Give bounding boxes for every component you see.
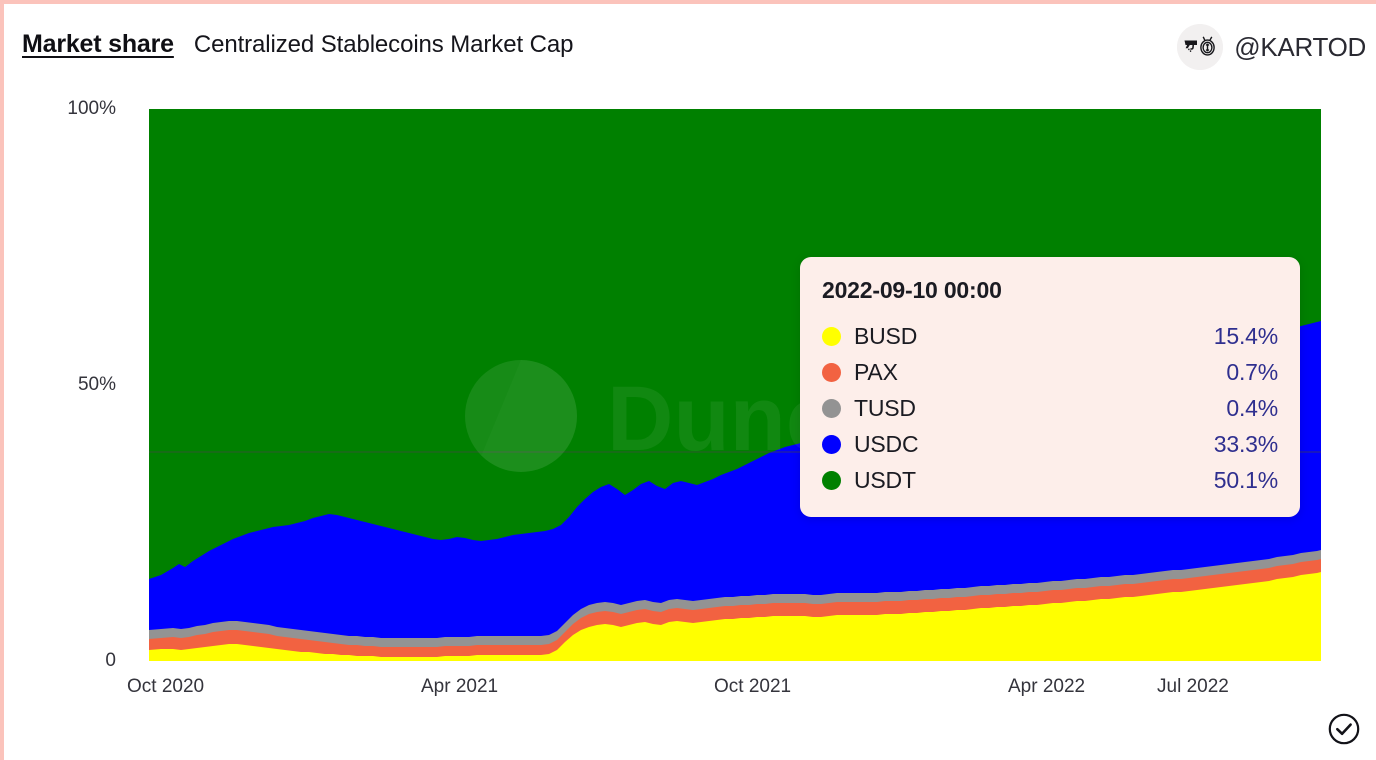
tooltip-label: TUSD <box>854 395 1226 422</box>
page-header: Market share Centralized Stablecoins Mar… <box>4 4 1376 88</box>
account-handle: @KARTOD <box>1234 32 1366 63</box>
tooltip-row-tusd: TUSD 0.4% <box>822 390 1278 426</box>
check-circle-icon[interactable] <box>1327 712 1361 746</box>
gun-coin-avatar-icon <box>1177 24 1223 70</box>
x-axis: Oct 2020 Apr 2021 Oct 2021 Apr 2022 Jul … <box>4 676 1376 712</box>
title-secondary: Centralized Stablecoins Market Cap <box>194 31 573 59</box>
x-tick-label: Oct 2021 <box>714 676 791 698</box>
tooltip-value: 0.4% <box>1226 395 1278 422</box>
y-tick-label: 100% <box>67 98 116 120</box>
title-primary: Market share <box>22 30 174 59</box>
tooltip-value: 50.1% <box>1214 467 1278 494</box>
chart-page: Market share Centralized Stablecoins Mar… <box>0 0 1376 760</box>
y-tick-label: 0 <box>105 650 116 672</box>
x-tick-label: Oct 2020 <box>127 676 204 698</box>
x-tick-label: Apr 2021 <box>421 676 498 698</box>
chart-tooltip: 2022-09-10 00:00 BUSD 15.4% PAX 0.7% TUS… <box>800 257 1300 517</box>
legend-dot-usdc <box>822 435 841 454</box>
tooltip-date: 2022-09-10 00:00 <box>822 277 1278 304</box>
chart-container: 100% 50% 0 <box>4 88 1376 708</box>
tooltip-row-usdt: USDT 50.1% <box>822 462 1278 498</box>
tooltip-value: 33.3% <box>1214 431 1278 458</box>
y-tick-label: 50% <box>78 374 116 396</box>
page-title: Market share Centralized Stablecoins Mar… <box>22 30 573 59</box>
tooltip-value: 15.4% <box>1214 323 1278 350</box>
tooltip-value: 0.7% <box>1226 359 1278 386</box>
account-badge[interactable]: @KARTOD <box>1177 24 1366 70</box>
tooltip-label: USDT <box>854 467 1214 494</box>
tooltip-label: USDC <box>854 431 1214 458</box>
legend-dot-pax <box>822 363 841 382</box>
tooltip-label: BUSD <box>854 323 1214 350</box>
y-axis: 100% 50% 0 <box>4 88 134 678</box>
tooltip-row-pax: PAX 0.7% <box>822 354 1278 390</box>
legend-dot-busd <box>822 327 841 346</box>
tooltip-row-busd: BUSD 15.4% <box>822 318 1278 354</box>
legend-dot-usdt <box>822 471 841 490</box>
x-tick-label: Jul 2022 <box>1157 676 1229 698</box>
tooltip-label: PAX <box>854 359 1226 386</box>
x-tick-label: Apr 2022 <box>1008 676 1085 698</box>
tooltip-row-usdc: USDC 33.3% <box>822 426 1278 462</box>
legend-dot-tusd <box>822 399 841 418</box>
